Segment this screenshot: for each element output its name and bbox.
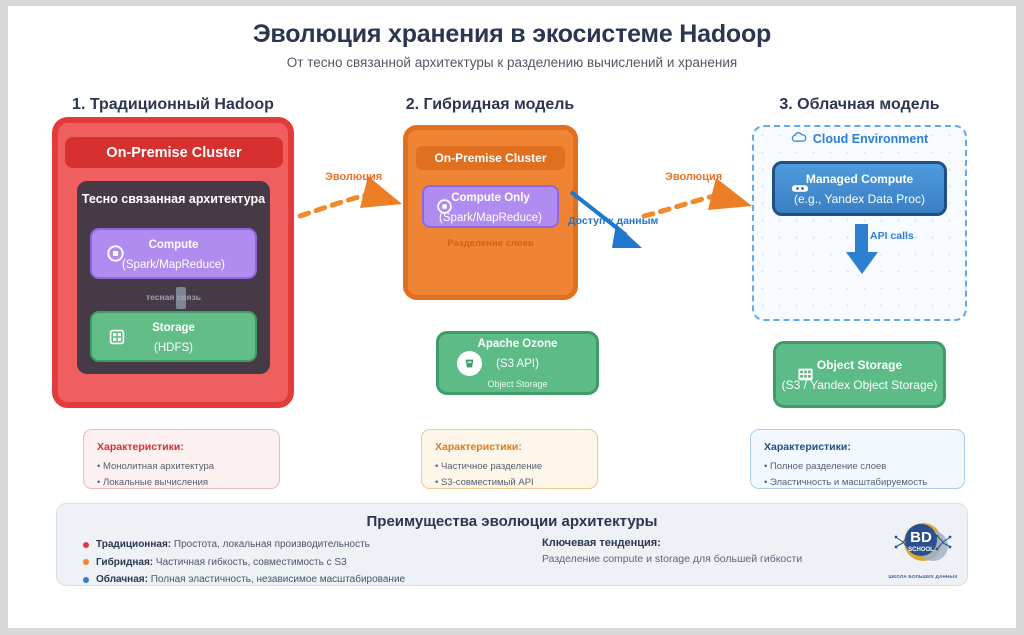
cloud-environment-zone — [752, 125, 967, 321]
column-title-hybrid: 2. Гибридная модель — [390, 96, 590, 114]
evolution-arrow-1-label: Эволюция — [325, 171, 382, 183]
characteristics-title: Характеристики: — [435, 441, 584, 453]
characteristics-traditional: Характеристики: Монолитная архитектура Л… — [83, 429, 280, 489]
logo-caption: ШКОЛА БОЛЬШИХ ДАННЫХ — [877, 574, 969, 579]
cluster-header-traditional: On-Premise Cluster — [65, 137, 283, 168]
managed-compute-box[interactable]: Managed Compute (e.g., Yandex Data Proc) — [772, 161, 947, 216]
summary-item-name: Традиционная: — [96, 539, 171, 550]
compute-box-text: Compute (Spark/MapReduce) — [122, 234, 225, 274]
compute-box-traditional[interactable]: Compute (Spark/MapReduce) — [90, 228, 257, 279]
bullet-dot-traditional — [83, 542, 89, 548]
characteristics-hybrid: Характеристики: Частичное разделение S3-… — [421, 429, 598, 489]
summary-panel: Преимущества эволюции архитектуры Традиц… — [56, 503, 968, 586]
summary-item-name: Гибридная: — [96, 557, 153, 568]
evolution-arrow-2-label: Эволюция — [665, 171, 722, 183]
column-title-traditional: 1. Традиционный Hadoop — [52, 96, 294, 114]
header: Эволюция хранения в экосистеме Hadoop От… — [8, 20, 1016, 70]
key-trend-title: Ключевая тенденция: — [542, 537, 802, 549]
cpu-icon — [433, 196, 455, 218]
page-title: Эволюция хранения в экосистеме Hadoop — [8, 20, 1016, 49]
characteristics-item: Эластичность и масштабируемость — [764, 475, 951, 491]
characteristics-item: Монолитная архитектура — [97, 459, 266, 475]
logo-mark: BD — [910, 529, 932, 546]
apache-ozone-text: Apache Ozone (S3 API) Object Storage — [478, 333, 558, 393]
api-calls-label: API calls — [870, 230, 914, 242]
page-subtitle: От тесно связанной архитектуры к разделе… — [8, 55, 1016, 70]
bullet-dot-hybrid — [83, 559, 89, 565]
coupling-label: тесная связь — [90, 292, 257, 302]
apache-ozone-box[interactable]: Apache Ozone (S3 API) Object Storage — [436, 331, 599, 395]
characteristics-title: Характеристики: — [764, 441, 951, 453]
logo-sub: SCHOOL — [908, 547, 934, 553]
brand-logo: BD SCHOOL ШКОЛА БОЛЬШИХ ДАННЫХ — [877, 518, 969, 580]
key-trend: Ключевая тенденция: Разделение compute и… — [542, 537, 802, 565]
summary-item: Традиционная: Простота, локальная произв… — [83, 536, 405, 554]
database-grid-icon — [106, 326, 128, 348]
storage-box-traditional[interactable]: Storage (HDFS) — [90, 311, 257, 362]
characteristics-item: Полное разделение слоев — [764, 459, 951, 475]
layer-separation-note: Разделение слоев — [403, 238, 578, 249]
characteristics-item: Локальные вычисления — [97, 475, 266, 491]
cpu-icon — [104, 243, 126, 265]
evolution-arrow-1 — [294, 156, 412, 226]
cloud-icon — [791, 132, 807, 146]
tightly-coupled-architecture-label: Тесно связанная архитектура — [77, 192, 270, 206]
storage-box-text: Storage (HDFS) — [152, 317, 195, 357]
summary-title: Преимущества эволюции архитектуры — [57, 513, 967, 530]
storage-rack-icon — [794, 364, 816, 386]
object-storage-box[interactable]: Object Storage (S3 / Yandex Object Stora… — [773, 341, 946, 408]
compute-only-box[interactable]: Compute Only (Spark/MapReduce) — [422, 185, 559, 228]
cluster-header-hybrid: On-Premise Cluster — [416, 146, 565, 170]
summary-item-text: Частичная гибкость, совместимость с S3 — [153, 557, 347, 568]
cloud-environment-text: Cloud Environment — [813, 132, 928, 146]
characteristics-item: Частичное разделение — [435, 459, 584, 475]
cloud-environment-label: Cloud Environment — [752, 132, 967, 146]
s3-bucket-icon — [457, 351, 482, 376]
summary-item-name: Облачная: — [96, 574, 148, 585]
summary-item-text: Простота, локальная производительность — [171, 539, 370, 550]
characteristics-cloud: Характеристики: Полное разделение слоев … — [750, 429, 965, 489]
managed-compute-text: Managed Compute (e.g., Yandex Data Proc) — [794, 169, 925, 209]
bullet-dot-cloud — [83, 577, 89, 583]
summary-item: Гибридная: Частичная гибкость, совместим… — [83, 554, 405, 572]
characteristics-item: S3-совместимый API — [435, 475, 584, 491]
diagram-canvas: Эволюция хранения в экосистеме Hadoop От… — [8, 6, 1016, 628]
evolution-arrow-2 — [640, 156, 758, 226]
summary-item: Облачная: Полная эластичность, независим… — [83, 571, 405, 589]
characteristics-title: Характеристики: — [97, 441, 266, 453]
server-chip-icon — [789, 178, 811, 200]
summary-list: Традиционная: Простота, локальная произв… — [83, 536, 405, 589]
key-trend-body: Разделение compute и storage для большей… — [542, 553, 802, 565]
summary-item-text: Полная эластичность, независимое масштаб… — [148, 574, 405, 585]
column-title-cloud: 3. Облачная модель — [752, 96, 967, 114]
